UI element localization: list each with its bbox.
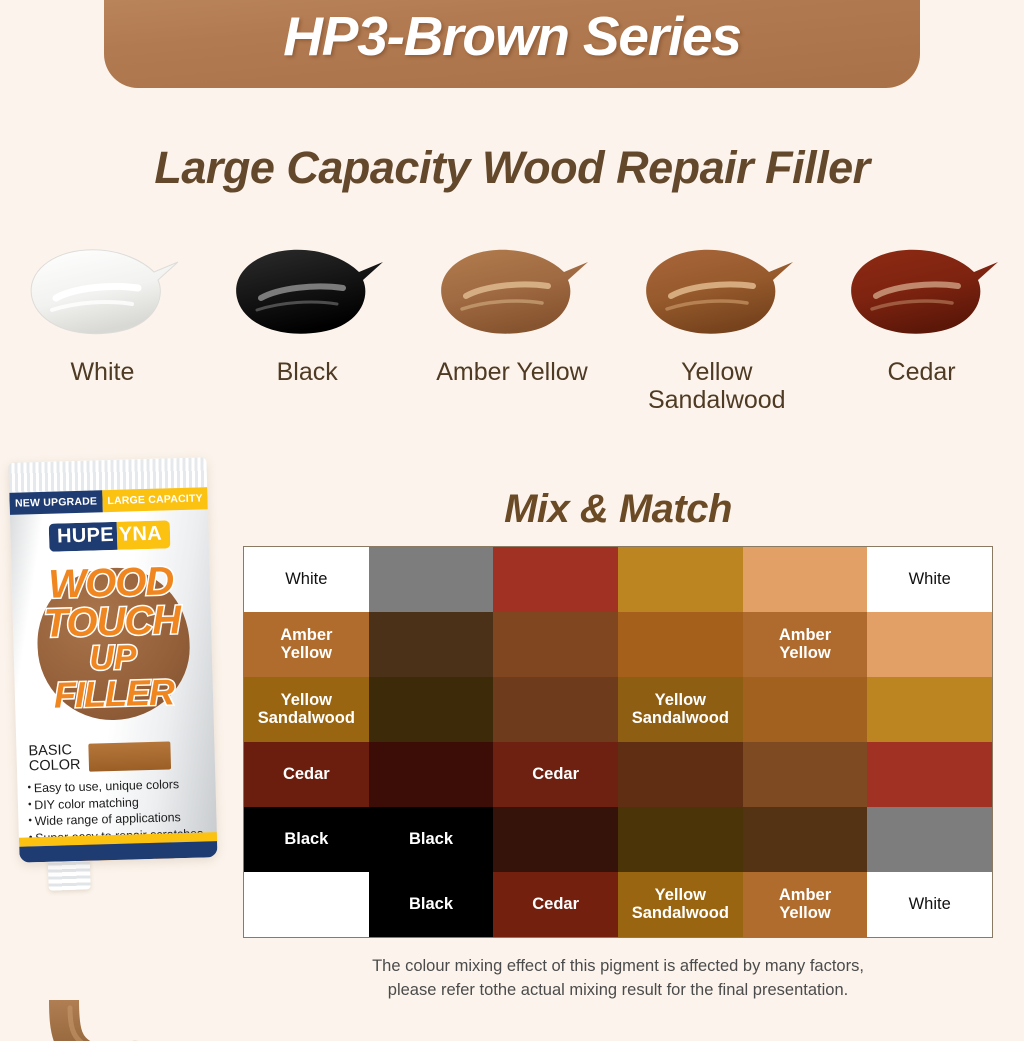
mix-cell-r3-c1: YellowSandalwood <box>244 677 369 742</box>
paste-blob-icon <box>217 236 397 348</box>
swatch-black: Black <box>205 236 410 414</box>
mix-cell-r2-c1: AmberYellow <box>244 612 369 677</box>
mix-cell-label: Cedar <box>283 766 330 784</box>
swatch-cedar: Cedar <box>819 236 1024 414</box>
mix-cell-r2-c4 <box>618 612 743 677</box>
swatch-label: Cedar <box>888 358 956 386</box>
mix-match-grid: WhiteWhiteAmberYellowAmberYellowYellowSa… <box>243 546 993 938</box>
tube-name-line4: FILLER <box>14 673 213 714</box>
paste-blob-icon <box>627 236 807 348</box>
mix-cell-r5-c3 <box>493 807 618 872</box>
mix-cell-label: AmberYellow <box>280 627 332 663</box>
mix-cell-r6-c1 <box>244 872 369 937</box>
mix-cell-r5-c2: Black <box>369 807 494 872</box>
mix-cell-r4-c6 <box>867 742 992 807</box>
mix-cell-r3-c2 <box>369 677 494 742</box>
mix-cell-r2-c2 <box>369 612 494 677</box>
swatch-yellow-sandalwood: Yellow Sandalwood <box>614 236 819 414</box>
mix-cell-label: White <box>909 571 951 589</box>
mix-cell-r6-c4: YellowSandalwood <box>618 872 743 937</box>
mix-match-footnote: The colour mixing effect of this pigment… <box>243 955 993 1003</box>
mix-cell-r6-c6: White <box>867 872 992 937</box>
tube-product-name: WOOD TOUCH UP FILLER <box>11 561 213 713</box>
swatch-amber-yellow: Amber Yellow <box>410 236 615 414</box>
brand-logo-part2: YNA <box>116 520 170 549</box>
mix-cell-r2-c6 <box>867 612 992 677</box>
mix-cell-r3-c3 <box>493 677 618 742</box>
swatch-label: White <box>70 358 134 386</box>
swatch-white: White <box>0 236 205 414</box>
tag-large-capacity: LARGE CAPACITY <box>102 487 208 512</box>
mix-cell-r4-c4 <box>618 742 743 807</box>
brand-logo-part1: HUPE <box>49 522 118 552</box>
mix-cell-r4-c1: Cedar <box>244 742 369 807</box>
header-banner: HP3-Brown Series <box>104 0 920 88</box>
mix-cell-label: AmberYellow <box>779 887 831 923</box>
mix-cell-label: YellowSandalwood <box>632 887 729 923</box>
mix-cell-r4-c5 <box>743 742 868 807</box>
mix-cell-r6-c2: Black <box>369 872 494 937</box>
mix-cell-r1-c5 <box>743 547 868 612</box>
mix-cell-r1-c6: White <box>867 547 992 612</box>
swatch-label: Yellow Sandalwood <box>622 358 812 414</box>
mix-cell-r3-c5 <box>743 677 868 742</box>
mix-cell-r6-c5: AmberYellow <box>743 872 868 937</box>
mix-cell-r4-c3: Cedar <box>493 742 618 807</box>
mix-cell-r5-c4 <box>618 807 743 872</box>
mix-cell-r4-c2 <box>369 742 494 807</box>
mix-cell-label: AmberYellow <box>779 627 831 663</box>
mix-cell-label: YellowSandalwood <box>258 692 355 728</box>
footnote-line2: please refer tothe actual mixing result … <box>243 979 993 1003</box>
swatch-label: Black <box>277 358 338 386</box>
mix-cell-r1-c2 <box>369 547 494 612</box>
mix-cell-r2-c5: AmberYellow <box>743 612 868 677</box>
page-subtitle: Large Capacity Wood Repair Filler <box>0 142 1024 194</box>
mix-cell-r2-c3 <box>493 612 618 677</box>
mix-cell-label: Black <box>409 896 453 914</box>
mix-cell-r1-c3 <box>493 547 618 612</box>
basic-color-chip <box>88 741 171 771</box>
page-title: HP3-Brown Series <box>104 0 920 88</box>
brand-logo: HUPE YNA <box>49 520 171 551</box>
tube-body: NEW UPGRADE LARGE CAPACITY HUPE YNA WOOD… <box>8 457 217 862</box>
mix-cell-r6-c3: Cedar <box>493 872 618 937</box>
mix-cell-r3-c6 <box>867 677 992 742</box>
mix-cell-r5-c1: Black <box>244 807 369 872</box>
mix-cell-label: Black <box>409 831 453 849</box>
paste-blob-icon <box>832 236 1012 348</box>
paste-blob-icon <box>12 236 192 348</box>
swatch-label: Amber Yellow <box>436 358 587 386</box>
mix-cell-label: YellowSandalwood <box>632 692 729 728</box>
mix-cell-r1-c4 <box>618 547 743 612</box>
mix-cell-label: Cedar <box>532 766 579 784</box>
product-tube: NEW UPGRADE LARGE CAPACITY HUPE YNA WOOD… <box>6 452 224 872</box>
mix-cell-r1-c1: White <box>244 547 369 612</box>
mix-cell-label: Black <box>284 831 328 849</box>
paste-blob-icon <box>422 236 602 348</box>
mix-match-title: Mix & Match <box>243 487 993 532</box>
footnote-line1: The colour mixing effect of this pigment… <box>243 955 993 979</box>
mix-cell-r5-c6 <box>867 807 992 872</box>
mix-cell-label: Cedar <box>532 896 579 914</box>
basic-color-line2: COLOR <box>29 758 81 774</box>
tag-new-upgrade: NEW UPGRADE <box>9 490 103 515</box>
mix-cell-r5-c5 <box>743 807 868 872</box>
mix-cell-label: White <box>285 571 327 589</box>
basic-color-row: BASIC COLOR <box>28 739 205 773</box>
paste-squiggle <box>6 1000 266 1041</box>
mix-cell-r3-c4: YellowSandalwood <box>618 677 743 742</box>
infographic-page: HP3-Brown Series Large Capacity Wood Rep… <box>0 0 1024 1041</box>
color-swatch-row: White Black <box>0 236 1024 414</box>
mix-cell-label: White <box>909 896 951 914</box>
basic-color-label: BASIC COLOR <box>28 743 80 774</box>
tube-tag-bar: NEW UPGRADE LARGE CAPACITY <box>9 487 208 515</box>
